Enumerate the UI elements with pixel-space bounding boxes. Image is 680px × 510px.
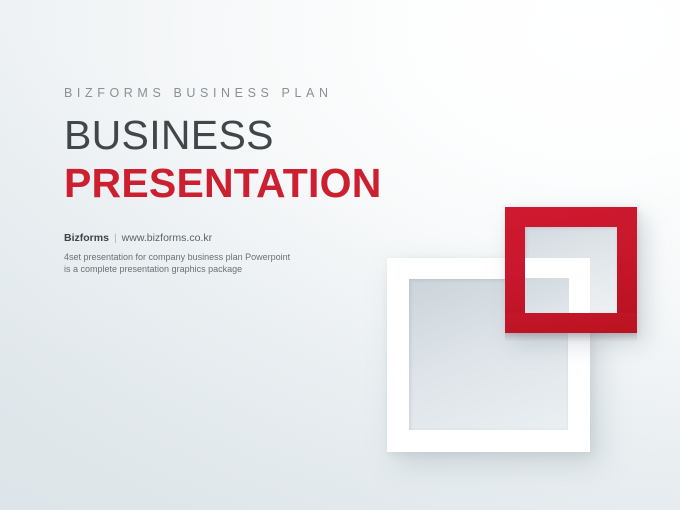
red-square-frame <box>505 207 637 333</box>
slide-title-primary: BUSINESS <box>64 112 382 158</box>
red-square-inner-fill <box>525 227 617 313</box>
byline-separator: | <box>109 232 122 244</box>
byline: Bizforms|www.bizforms.co.kr <box>64 232 382 244</box>
byline-url[interactable]: www.bizforms.co.kr <box>122 232 212 244</box>
presentation-slide: BIZFORMS BUSINESS PLAN BUSINESS PRESENTA… <box>0 0 680 510</box>
slide-eyebrow: BIZFORMS BUSINESS PLAN <box>64 86 382 100</box>
title-text-block: BIZFORMS BUSINESS PLAN BUSINESS PRESENTA… <box>64 86 382 275</box>
slide-title-accent: PRESENTATION <box>64 160 382 206</box>
slide-description: 4set presentation for company business p… <box>64 251 299 275</box>
byline-brand: Bizforms <box>64 232 109 244</box>
